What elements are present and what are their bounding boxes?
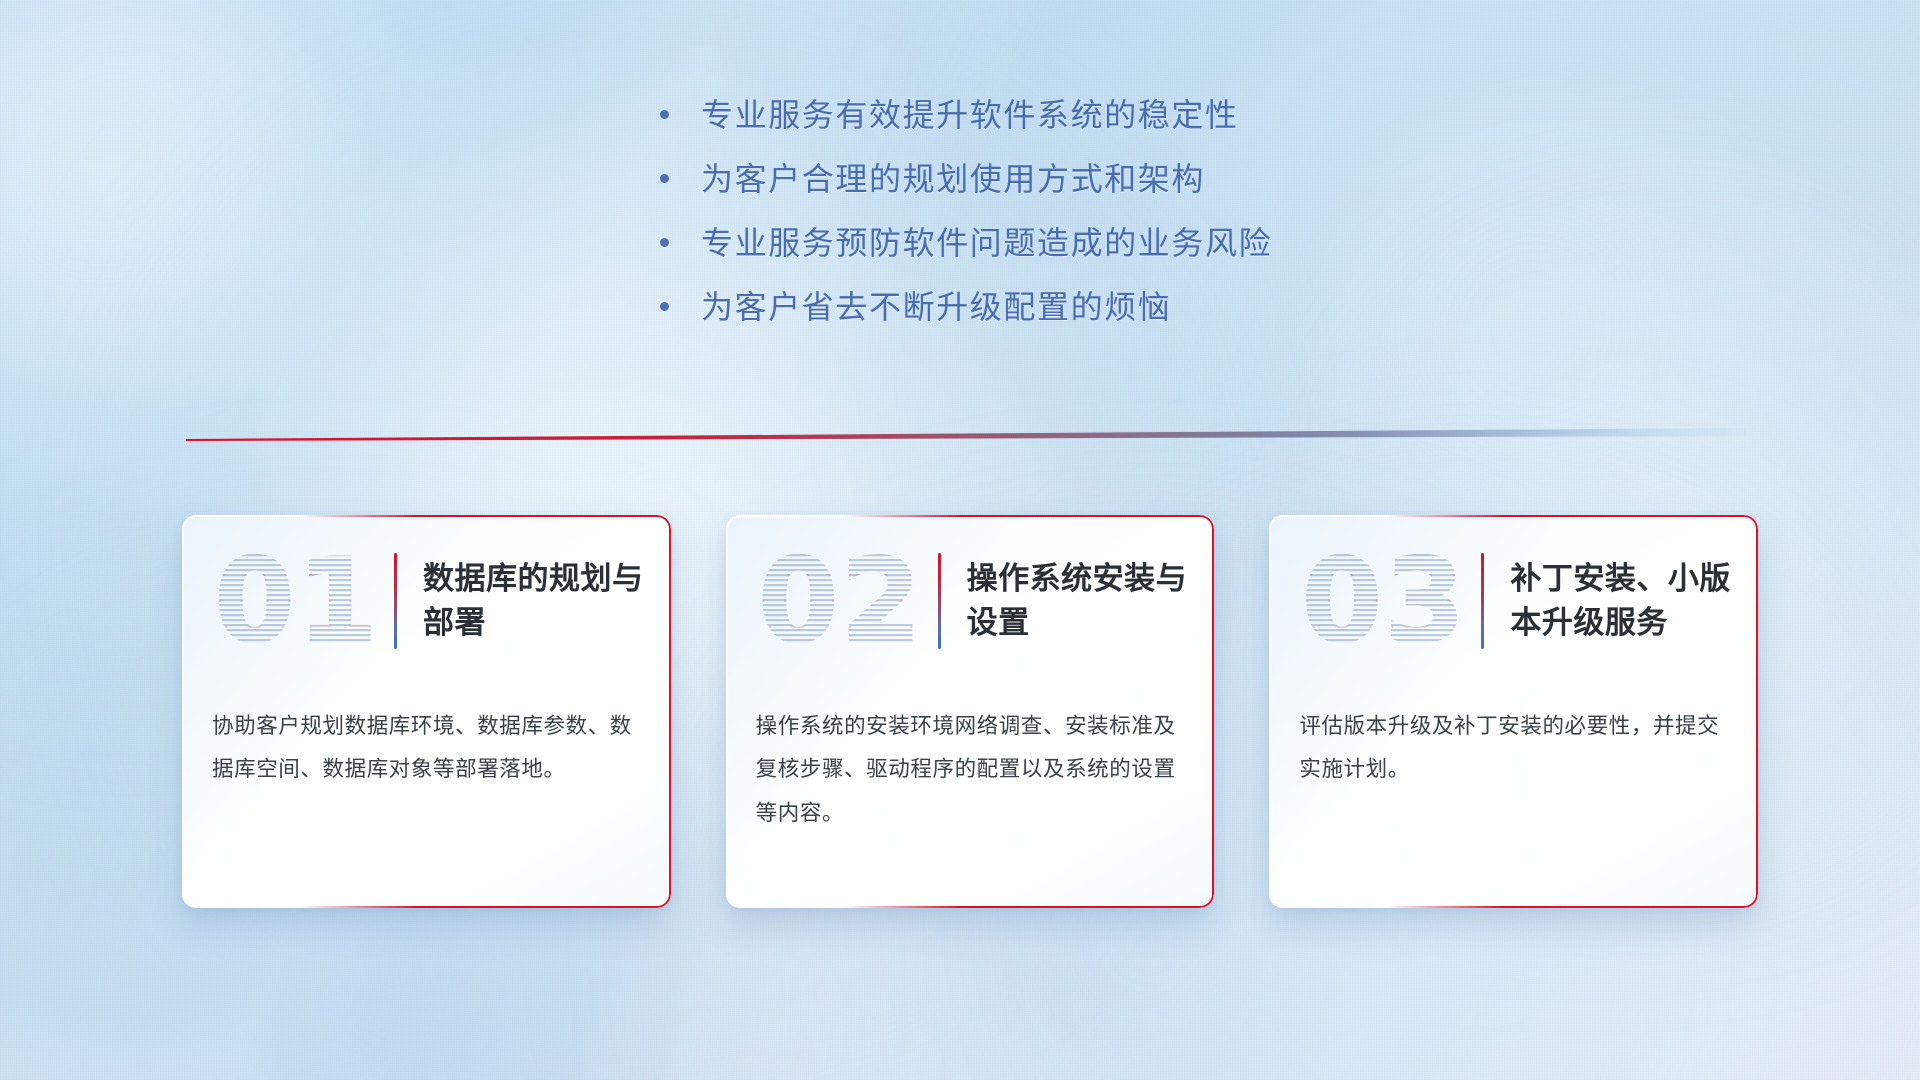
card-number-watermark: 01 01 [204,539,390,663]
bullet-text: 为客户合理的规划使用方式和架构 [701,162,1205,197]
card-number-glyph-tint: 01 [204,539,390,663]
card-title-accent-bar [938,553,941,649]
card-description: 协助客户规划数据库环境、数据库参数、数据库空间、数据库对象等部署落地。 [182,687,671,792]
card-number-watermark: 02 02 [748,539,934,663]
card-header: 02 02 操作系统安装与设置 [726,515,1215,687]
bullet-text: 专业服务预防软件问题造成的业务风险 [701,226,1272,261]
bullet-dot-icon [660,174,669,183]
list-item: 专业服务预防软件问题造成的业务风险 [660,226,1600,290]
card-header: 03 03 补丁安装、小版本升级服务 [1269,515,1758,687]
bullet-text: 为客户省去不断升级配置的烦恼 [701,290,1171,325]
service-card-list: 01 01 数据库的规划与部署 协助客户规划数据库环境、数据库参数、数据库空间、… [182,515,1758,908]
card-description: 评估版本升级及补丁安装的必要性，并提交实施计划。 [1269,687,1758,792]
service-card[interactable]: 02 02 操作系统安装与设置 操作系统的安装环境网络调查、安装标准及复核步骤、… [726,515,1215,908]
card-header: 01 01 数据库的规划与部署 [182,515,671,687]
card-title-accent-bar [394,553,397,649]
card-number-watermark: 03 03 [1291,539,1477,663]
list-item: 专业服务有效提升软件系统的稳定性 [660,98,1600,162]
bullet-dot-icon [660,302,669,311]
card-description: 操作系统的安装环境网络调查、安装标准及复核步骤、驱动程序的配置以及系统的设置等内… [726,687,1215,835]
list-item: 为客户省去不断升级配置的烦恼 [660,290,1600,354]
benefits-bullet-list: 专业服务有效提升软件系统的稳定性 为客户合理的规划使用方式和架构 专业服务预防软… [660,98,1600,354]
card-number-glyph-tint: 03 [1291,539,1477,663]
bullet-dot-icon [660,238,669,247]
service-card[interactable]: 03 03 补丁安装、小版本升级服务 评估版本升级及补丁安装的必要性，并提交实施… [1269,515,1758,908]
bullet-dot-icon [660,110,669,119]
service-card[interactable]: 01 01 数据库的规划与部署 协助客户规划数据库环境、数据库参数、数据库空间、… [182,515,671,908]
card-title: 数据库的规划与部署 [423,557,653,645]
list-item: 为客户合理的规划使用方式和架构 [660,162,1600,226]
bullet-text: 专业服务有效提升软件系统的稳定性 [701,98,1239,133]
card-title: 补丁安装、小版本升级服务 [1510,557,1740,645]
card-title-accent-bar [1481,553,1484,649]
card-title: 操作系统安装与设置 [967,557,1197,645]
card-number-glyph-tint: 02 [748,539,934,663]
